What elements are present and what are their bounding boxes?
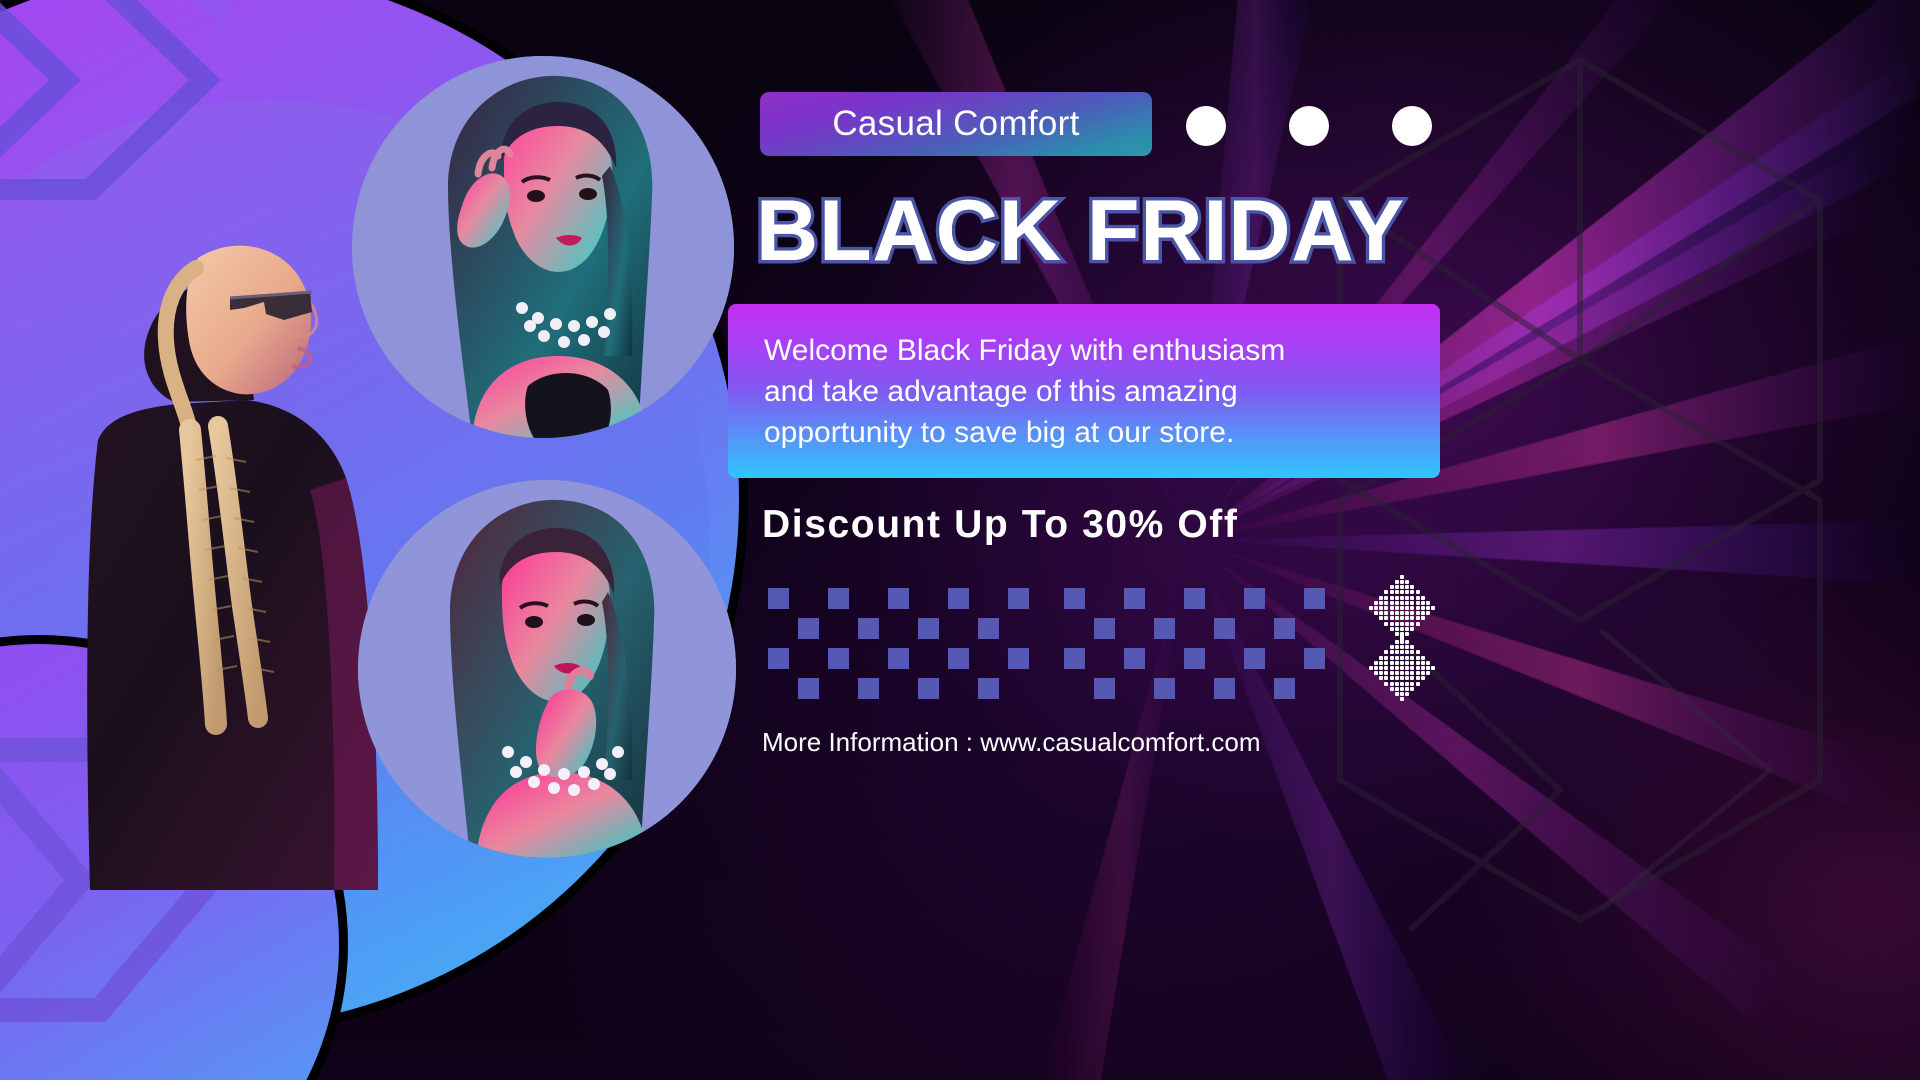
diamond-dot [1410, 590, 1414, 594]
diamond-dot [1379, 596, 1383, 600]
chevron-arrow-top-decoration [0, 0, 230, 200]
diamond-dot [1395, 692, 1399, 696]
diamond-dot [1410, 661, 1414, 665]
diamond-dot [1416, 616, 1420, 620]
diamond-dot [1410, 671, 1414, 675]
diamond-dot [1405, 590, 1409, 594]
dot-icon-1 [1186, 106, 1226, 146]
promo-line-3: opportunity to save big at our store. [764, 416, 1234, 449]
diamond-dot [1400, 590, 1404, 594]
checker-square [828, 648, 849, 669]
diamond-dot [1416, 606, 1420, 610]
diamond-dot [1421, 606, 1425, 610]
diamond-dot [1405, 640, 1409, 644]
diamond-dot [1395, 585, 1399, 589]
diamond-dot [1405, 627, 1409, 631]
diamond-dot [1405, 580, 1409, 584]
diamond-dot [1410, 596, 1414, 600]
checker-square [948, 648, 969, 669]
diamond-dot [1384, 650, 1388, 654]
diamond-dot [1405, 661, 1409, 665]
diamond-dot [1395, 606, 1399, 610]
diamond-dot [1379, 601, 1383, 605]
checker-square [1214, 678, 1235, 699]
diamond-dot [1416, 676, 1420, 680]
checker-square [1214, 618, 1235, 639]
diamond-dot [1395, 590, 1399, 594]
checker-square [1274, 678, 1295, 699]
decorative-dots-group [1186, 106, 1441, 146]
checker-square [798, 678, 819, 699]
checker-square [1304, 588, 1325, 609]
diamond-dot [1416, 601, 1420, 605]
diamond-dot [1384, 601, 1388, 605]
diamond-dot [1369, 606, 1373, 610]
diamond-dot [1405, 671, 1409, 675]
diamond-dot [1395, 645, 1399, 649]
diamond-dot [1410, 611, 1414, 615]
diamond-dot [1390, 606, 1394, 610]
checker-square [1244, 648, 1265, 669]
diamond-dot [1421, 656, 1425, 660]
portrait-photo-top [352, 56, 734, 438]
diamond-dot [1421, 666, 1425, 670]
diamond-dot [1384, 611, 1388, 615]
diamond-dot [1426, 606, 1430, 610]
diamond-dot [1405, 616, 1409, 620]
diamond-dot [1395, 666, 1399, 670]
diamond-dot [1395, 687, 1399, 691]
diamond-dot [1416, 671, 1420, 675]
diamond-dot [1395, 676, 1399, 680]
diamond-dot [1405, 676, 1409, 680]
diamond-dot [1390, 627, 1394, 631]
diamond-dot [1390, 666, 1394, 670]
diamond-dot [1400, 676, 1404, 680]
diamond-dot [1410, 676, 1414, 680]
diamond-dot [1400, 671, 1404, 675]
diamond-dot [1405, 585, 1409, 589]
diamond-dot [1400, 635, 1404, 639]
diamond-dot [1400, 666, 1404, 670]
diamond-dot [1421, 616, 1425, 620]
diamond-dot [1421, 676, 1425, 680]
diamond-dot [1395, 601, 1399, 605]
checker-square [1304, 648, 1325, 669]
diamond-dot [1384, 656, 1388, 660]
diamond-dot [1379, 606, 1383, 610]
diamond-dot [1416, 666, 1420, 670]
diamond-dot [1374, 601, 1378, 605]
diamond-dot [1405, 682, 1409, 686]
diamond-dot [1405, 650, 1409, 654]
diamond-dot [1395, 580, 1399, 584]
checker-square [1154, 618, 1175, 639]
diamond-dot [1400, 611, 1404, 615]
diamond-dot [1400, 687, 1404, 691]
diamond-dot [1374, 666, 1378, 670]
diamond-dot [1400, 692, 1404, 696]
diamond-dot [1405, 632, 1409, 636]
diamond-dot [1395, 661, 1399, 665]
diamond-dot [1395, 622, 1399, 626]
promo-line-2: and take advantage of this amazing [764, 375, 1238, 408]
diamond-dot [1374, 671, 1378, 675]
promo-paragraph: Welcome Black Friday with enthusiasm and… [764, 330, 1285, 453]
diamond-dot [1400, 656, 1404, 660]
diamond-dot [1384, 676, 1388, 680]
diamond-dot [1426, 671, 1430, 675]
diamond-dot [1400, 627, 1404, 631]
diamond-dot [1416, 596, 1420, 600]
diamond-dot [1395, 627, 1399, 631]
diamond-dot [1405, 622, 1409, 626]
brand-badge[interactable]: Casual Comfort [760, 92, 1152, 156]
diamond-dot [1390, 601, 1394, 605]
diamond-dot [1421, 601, 1425, 605]
diamond-dot [1410, 601, 1414, 605]
diamond-dot [1374, 606, 1378, 610]
diamond-dot [1400, 697, 1404, 701]
diamond-dot [1405, 666, 1409, 670]
checker-square [1124, 588, 1145, 609]
diamond-dot [1400, 650, 1404, 654]
checker-square [858, 678, 879, 699]
checker-square [978, 618, 999, 639]
diamond-dot [1410, 666, 1414, 670]
diamond-dot [1390, 596, 1394, 600]
diamond-dot [1405, 656, 1409, 660]
checker-square [1094, 678, 1115, 699]
diamond-dot [1405, 692, 1409, 696]
diamond-dot [1384, 596, 1388, 600]
diamond-dot [1379, 656, 1383, 660]
diamond-dot [1395, 632, 1399, 636]
diamond-dot [1405, 645, 1409, 649]
diamond-dot [1395, 656, 1399, 660]
diamond-dot [1390, 590, 1394, 594]
checker-square [1184, 648, 1205, 669]
diamond-dot [1416, 590, 1420, 594]
diamond-dot [1400, 585, 1404, 589]
checker-square [1244, 588, 1265, 609]
page-title: BLACK FRIDAY [756, 186, 1456, 276]
diamond-dot [1390, 622, 1394, 626]
checker-square [888, 588, 909, 609]
discount-heading: Discount Up To 30% Off [762, 503, 1442, 549]
diamond-dot [1410, 627, 1414, 631]
diamond-dot [1384, 616, 1388, 620]
checker-square [858, 618, 879, 639]
diamond-dot [1379, 666, 1383, 670]
checker-square [828, 588, 849, 609]
checker-square [1064, 648, 1085, 669]
diamond-dot [1374, 661, 1378, 665]
diamond-dot [1405, 596, 1409, 600]
diamond-dot [1379, 671, 1383, 675]
diamond-dot [1410, 606, 1414, 610]
checker-square [1124, 648, 1145, 669]
diamond-dot-ornament [1368, 578, 1434, 694]
diamond-dot [1405, 611, 1409, 615]
diamond-dot [1416, 650, 1420, 654]
diamond-dot [1379, 611, 1383, 615]
diamond-dot [1384, 682, 1388, 686]
diamond-dot [1384, 666, 1388, 670]
promo-text-box: Welcome Black Friday with enthusiasm and… [728, 304, 1440, 478]
portrait-photo-bottom [358, 480, 736, 858]
diamond-dot [1410, 682, 1414, 686]
diamond-dot [1416, 661, 1420, 665]
diamond-dot [1410, 585, 1414, 589]
promo-line-1: Welcome Black Friday with enthusiasm [764, 334, 1285, 367]
checker-square [1008, 648, 1029, 669]
diamond-dot [1421, 611, 1425, 615]
checker-square [888, 648, 909, 669]
checker-square [978, 678, 999, 699]
diamond-dot [1384, 590, 1388, 594]
diamond-dot [1390, 611, 1394, 615]
diamond-dot [1379, 661, 1383, 665]
diamond-dot [1400, 645, 1404, 649]
diamond-dot [1416, 682, 1420, 686]
diamond-dot [1390, 661, 1394, 665]
checker-square [1184, 588, 1205, 609]
diamond-dot [1421, 596, 1425, 600]
diamond-dot [1395, 682, 1399, 686]
checker-square [1064, 588, 1085, 609]
diamond-dot [1405, 606, 1409, 610]
diamond-dot [1374, 611, 1378, 615]
diamond-dot [1390, 645, 1394, 649]
dot-icon-3 [1392, 106, 1432, 146]
diamond-dot [1400, 640, 1404, 644]
diamond-dot [1395, 596, 1399, 600]
diamond-dot [1410, 650, 1414, 654]
diamond-dot [1395, 616, 1399, 620]
diamond-dot [1410, 687, 1414, 691]
diamond-dot [1384, 671, 1388, 675]
diamond-dot [1400, 601, 1404, 605]
checker-square [918, 618, 939, 639]
diamond-dot [1379, 616, 1383, 620]
diamond-dot [1369, 666, 1373, 670]
footer-info: More Information : www.casualcomfort.com [762, 727, 1442, 761]
diamond-dot [1390, 687, 1394, 691]
diamond-dot [1400, 580, 1404, 584]
diamond-dot [1400, 616, 1404, 620]
diamond-dot [1390, 650, 1394, 654]
diamond-dot [1379, 676, 1383, 680]
checker-square [1274, 618, 1295, 639]
diamond-dot [1384, 622, 1388, 626]
diamond-dot [1400, 661, 1404, 665]
diamond-dot [1400, 682, 1404, 686]
checker-square [798, 618, 819, 639]
diamond-dot [1390, 656, 1394, 660]
diamond-dot [1400, 596, 1404, 600]
diamond-dot [1384, 606, 1388, 610]
brand-badge-label: Casual Comfort [832, 104, 1079, 144]
diamond-dot [1426, 666, 1430, 670]
diamond-dot [1405, 687, 1409, 691]
diamond-dot [1410, 656, 1414, 660]
diamond-dot [1410, 616, 1414, 620]
diamond-dot [1405, 601, 1409, 605]
black-friday-banner: Casual Comfort BLACK FRIDAY BLACK FRIDAY… [0, 0, 1920, 1080]
diamond-dot [1390, 585, 1394, 589]
checker-square [1094, 618, 1115, 639]
diamond-dot [1416, 611, 1420, 615]
diamond-dot [1410, 645, 1414, 649]
diamond-dot [1395, 671, 1399, 675]
diamond-dot [1390, 676, 1394, 680]
diamond-dot [1400, 575, 1404, 579]
diamond-dot [1395, 611, 1399, 615]
checker-square [948, 588, 969, 609]
checker-square [1154, 678, 1175, 699]
diamond-dot [1390, 671, 1394, 675]
diamond-dot [1426, 661, 1430, 665]
diamond-dot [1390, 616, 1394, 620]
diamond-dot [1416, 622, 1420, 626]
diamond-dot [1426, 611, 1430, 615]
diamond-dot [1431, 606, 1435, 610]
checker-square [1008, 588, 1029, 609]
diamond-dot [1426, 601, 1430, 605]
diamond-dot [1431, 666, 1435, 670]
diamond-dot [1390, 682, 1394, 686]
dot-icon-2 [1289, 106, 1329, 146]
diamond-dot [1400, 622, 1404, 626]
diamond-dot [1400, 606, 1404, 610]
diamond-dot [1421, 661, 1425, 665]
checker-square [768, 588, 789, 609]
diamond-dot [1416, 656, 1420, 660]
diamond-dot [1384, 661, 1388, 665]
checker-square [768, 648, 789, 669]
checker-square [918, 678, 939, 699]
diamond-dot [1410, 622, 1414, 626]
diamond-dot [1395, 650, 1399, 654]
diamond-dot [1395, 640, 1399, 644]
diamond-dot [1421, 671, 1425, 675]
